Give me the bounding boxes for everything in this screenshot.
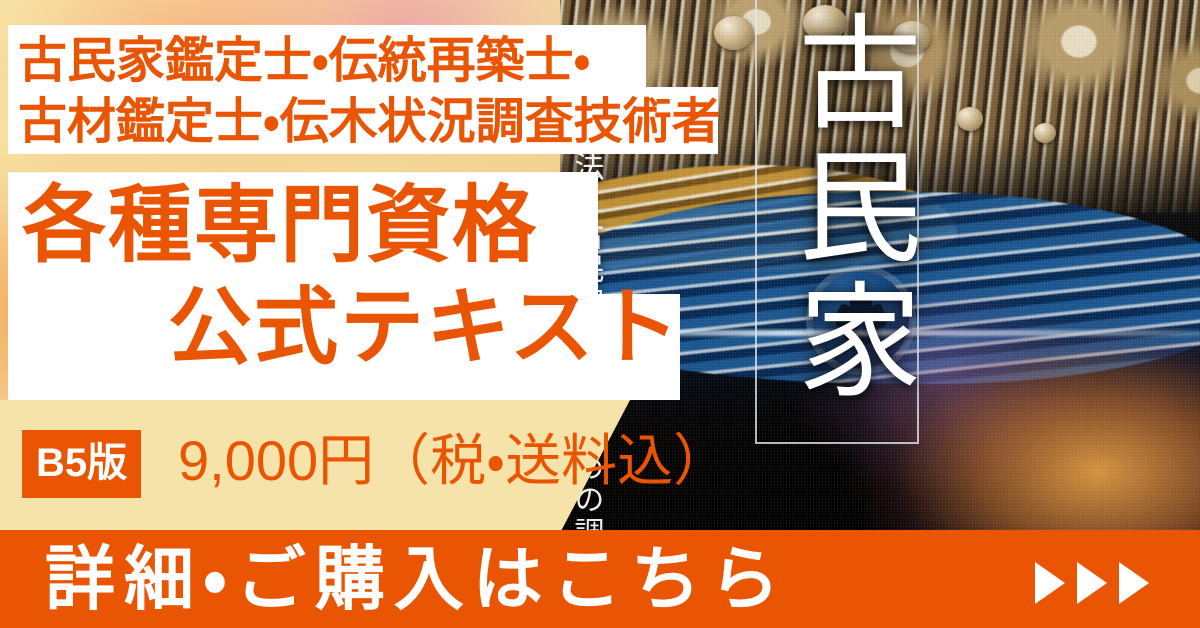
cta-bar[interactable]: 詳細・ご購入はこちら: [0, 530, 1200, 628]
price-text: 9,000円（税・送料込）: [178, 433, 729, 489]
format-badge: B5版: [22, 430, 141, 498]
chevron-right-icon: [1119, 562, 1149, 604]
headline-line-2: 公式テキスト: [168, 285, 681, 369]
promo-banner: 古民家 伝統構法 古民家活用のための調査と再生の 古民家鑑定士・伝統再築士・ 古…: [0, 0, 1200, 628]
qualification-list: 古民家鑑定士・伝統再築士・ 古材鑑定士・伝木状況調査技術者: [18, 31, 718, 153]
cta-arrows: [1035, 562, 1149, 604]
cta-label: 詳細・ご購入はこちら: [45, 541, 789, 617]
headline-line-1: 各種専門資格: [22, 183, 538, 267]
chevron-right-icon: [1035, 562, 1065, 604]
qualification-line-2: 古材鑑定士・伝木状況調査技術者: [18, 92, 718, 153]
book-title: 古民家: [758, 8, 910, 410]
chevron-right-icon: [1077, 562, 1107, 604]
qualification-line-1: 古民家鑑定士・伝統再築士・: [18, 31, 718, 92]
